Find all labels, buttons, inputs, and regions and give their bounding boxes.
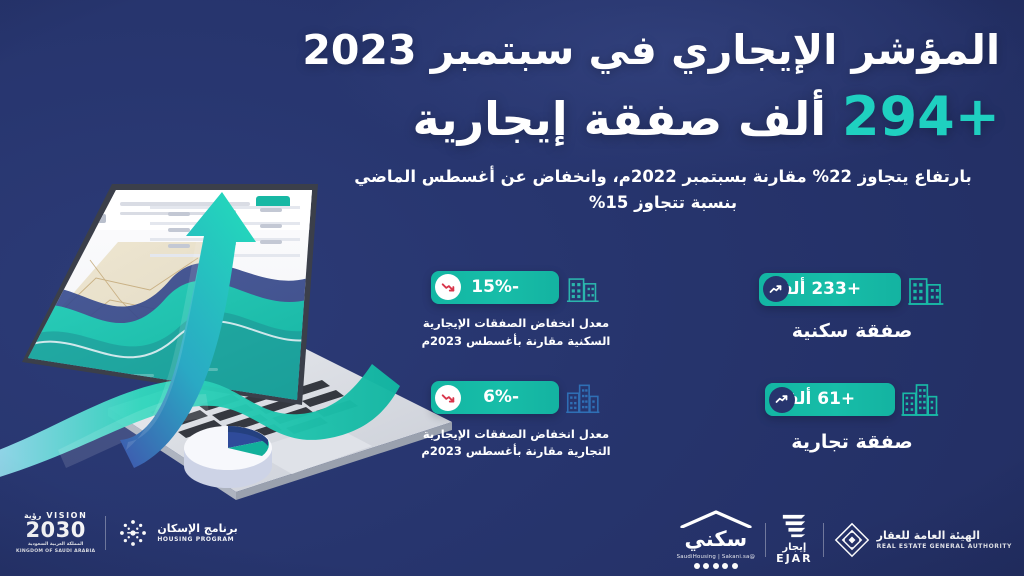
social-icon-twitter[interactable] (732, 563, 738, 569)
residential-buildings-icon (563, 268, 601, 306)
trend-down-icon (440, 390, 456, 406)
value-pill: -15% (431, 271, 559, 304)
vision-sub-en: KINGDOM OF SAUDI ARABIA (16, 550, 95, 555)
stat-commercial-deals: +61 ألف صفقة تجارية (710, 379, 994, 462)
stat-caption: معدل انخفاض الصفقات الإيجارية السكنية مق… (411, 315, 621, 351)
vision-sub-ar: المملكة العربية السعودية (28, 543, 83, 548)
stat-residential-decline: -15% معدل انخفاض الصفقات الإيجارية السكن… (374, 268, 658, 351)
social-icon-linkedin[interactable] (703, 563, 709, 569)
logo-real-estate-authority: الهيئة العامة للعقار REAL ESTATE GENERAL… (834, 522, 1012, 558)
headline-total: +294 ألف صفقة إيجارية (340, 84, 1000, 150)
housing-program-label-en: HOUSING PROGRAM (157, 536, 234, 544)
stat-label: صفقة سكنية (792, 319, 913, 344)
logo-divider (105, 516, 106, 550)
commercial-buildings-icon (899, 379, 939, 421)
pill-row: -15% (431, 268, 601, 306)
residential-buildings-icon (905, 268, 945, 310)
infographic-canvas: المؤشر الإيجاري في سبتمبر 2023 +294 ألف … (0, 0, 1024, 576)
social-icon-instagram[interactable] (722, 563, 728, 569)
stat-caption: معدل انخفاض الصفقات الإيجارية التجارية م… (411, 426, 621, 462)
sakani-roof-icon (678, 510, 754, 528)
pill-row: -6% (431, 379, 601, 417)
stat-value: -6% (483, 389, 519, 406)
logo-divider (823, 523, 824, 557)
social-icons-row (694, 563, 738, 569)
social-icon-youtube[interactable] (713, 563, 719, 569)
saudi-emblem-icon (116, 516, 150, 550)
headline-number: +294 (842, 85, 1000, 148)
logo-vision-2030: VISION رؤية 2030 المملكة العربية السعودي… (16, 512, 95, 554)
sakani-handles: @SaudiHousing | Sakani.sa (677, 554, 755, 560)
trend-up-icon (768, 282, 783, 297)
headline-block: المؤشر الإيجاري في سبتمبر 2023 +294 ألف … (340, 26, 1000, 215)
rega-diamond-icon (834, 522, 870, 558)
stat-value: -15% (471, 279, 519, 296)
trend-down-badge (435, 274, 461, 300)
stat-label: صفقة تجارية (791, 430, 912, 455)
vision-number: 2030 (25, 520, 85, 541)
ejar-label-en: EJAR (776, 553, 813, 566)
trend-up-icon (774, 392, 789, 407)
footer-left-logos: برنامج الإسكان HOUSING PROGRAM (16, 512, 238, 554)
pill-row: +61 ألف (765, 379, 939, 421)
vision-number-text: 2030 (25, 520, 85, 541)
value-pill: +233 ألف (759, 273, 901, 306)
trend-up-badge (769, 387, 795, 413)
stat-commercial-decline: -6% معدل انخفاض الصفقات الإيجارية التجار… (374, 379, 658, 462)
logo-sakani: سكني @SaudiHousing | Sakani.sa (677, 510, 755, 569)
value-pill: +61 ألف (765, 383, 895, 416)
stats-grid: +233 ألف صفقة سكنية (374, 268, 994, 461)
rega-label-ar: الهيئة العامة للعقار (877, 529, 980, 543)
trend-down-badge (435, 385, 461, 411)
sakani-label-ar: سكني (685, 529, 748, 550)
ejar-mark-icon (779, 513, 809, 539)
rega-label-en: REAL ESTATE GENERAL AUTHORITY (877, 543, 1012, 551)
page-title: المؤشر الإيجاري في سبتمبر 2023 (340, 26, 1000, 74)
pill-row: +233 ألف (759, 268, 945, 310)
trend-down-icon (440, 279, 456, 295)
pie-chart-3d (184, 426, 272, 488)
footer-right-logos: الهيئة العامة للعقار REAL ESTATE GENERAL… (677, 510, 1012, 569)
value-pill: -6% (431, 381, 559, 414)
stat-residential-deals: +233 ألف صفقة سكنية (710, 268, 994, 351)
commercial-buildings-icon (563, 379, 601, 417)
footer-logo-bar: برنامج الإسكان HOUSING PROGRAM (0, 500, 1024, 576)
housing-program-label-ar: برنامج الإسكان (157, 522, 238, 536)
trend-up-badge (763, 276, 789, 302)
headline-unit: ألف صفقة إيجارية (412, 92, 826, 146)
social-icon-facebook[interactable] (694, 563, 700, 569)
logo-divider (765, 523, 766, 557)
headline-subtitle: بارتفاع يتجاوز 22% مقارنة بسبتمبر 2022م،… (340, 164, 1000, 215)
logo-housing-program: برنامج الإسكان HOUSING PROGRAM (116, 516, 238, 550)
logo-ejar: إيجار EJAR (776, 513, 813, 566)
